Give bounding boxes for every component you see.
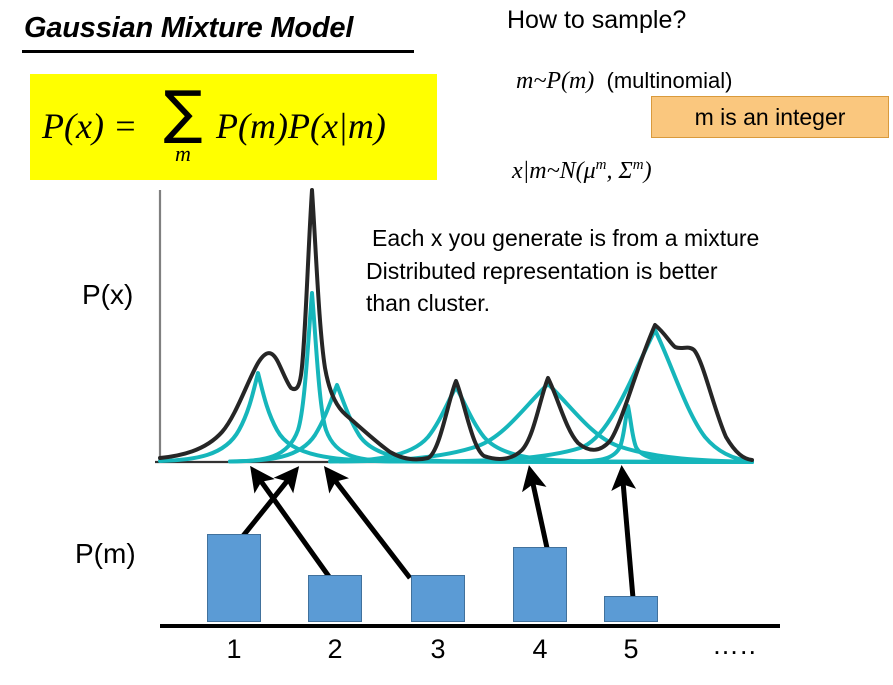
arrow-bar4-to-component xyxy=(530,470,547,548)
weight-bar-3 xyxy=(411,575,465,622)
slide-canvas: Gaussian Mixture Model P(x) = ∑ m P(m)P(… xyxy=(0,0,893,685)
equation-lhs: P(x) = xyxy=(42,105,137,147)
arrow-bar3-to-component xyxy=(327,470,410,578)
sample-step-m-formula: m~P(m) xyxy=(516,68,594,94)
sample-step-x-mid: , Σ xyxy=(606,158,632,184)
integer-callout-label: m is an integer xyxy=(651,96,889,138)
notes-line-3: than cluster. xyxy=(366,287,892,320)
component-curve-6 xyxy=(440,330,752,462)
notes-block: Each x you generate is from a mixture Di… xyxy=(372,222,892,320)
equation-rhs: P(m)P(x|m) xyxy=(216,105,386,147)
page-title: Gaussian Mixture Model xyxy=(24,12,353,45)
sample-step-x-suffix: ) xyxy=(644,158,652,184)
component-curve-4 xyxy=(330,387,752,462)
weight-bar-1 xyxy=(207,534,261,622)
summation-subscript: m xyxy=(152,143,214,165)
arrow-bar2-to-component xyxy=(253,470,330,578)
how-to-sample-heading: How to sample? xyxy=(507,6,686,35)
weight-bar-4 xyxy=(513,547,567,622)
sample-step-x-prefix: x|m~N(μ xyxy=(512,158,596,184)
pm-axis-label: P(m) xyxy=(75,538,136,570)
notes-line-1: Each x you generate is from a mixture xyxy=(372,222,892,255)
tick-label-4: 4 xyxy=(520,634,560,665)
component-curve-7 xyxy=(580,406,752,462)
tick-label-1: 1 xyxy=(214,634,254,665)
pm-x-axis xyxy=(160,624,780,628)
title-underline xyxy=(22,50,414,53)
tick-label-3: 3 xyxy=(418,634,458,665)
px-axis-label: P(x) xyxy=(82,279,133,311)
component-curve-1 xyxy=(160,373,752,462)
weight-bar-2 xyxy=(308,575,362,622)
sample-step-x: x|m~N(μm, Σm) xyxy=(512,157,652,185)
notes-line-2: Distributed representation is better xyxy=(366,255,892,288)
sample-step-x-sup1: m xyxy=(596,157,607,173)
component-curve-3 xyxy=(230,385,752,462)
sample-step-m-note: (multinomial) xyxy=(607,68,733,93)
component-curve-5 xyxy=(340,384,752,462)
weight-bar-5 xyxy=(604,596,658,622)
summation-symbol: ∑ xyxy=(152,83,214,141)
arrow-bar1-to-component xyxy=(243,470,296,536)
sample-step-m: m~P(m) (multinomial) xyxy=(516,68,732,95)
tick-label-2: 2 xyxy=(315,634,355,665)
tick-label-ellipsis: ….. xyxy=(712,630,757,661)
tick-label-5: 5 xyxy=(611,634,651,665)
arrow-bar5-to-component xyxy=(622,470,633,598)
sample-step-x-sup2: m xyxy=(633,157,644,173)
